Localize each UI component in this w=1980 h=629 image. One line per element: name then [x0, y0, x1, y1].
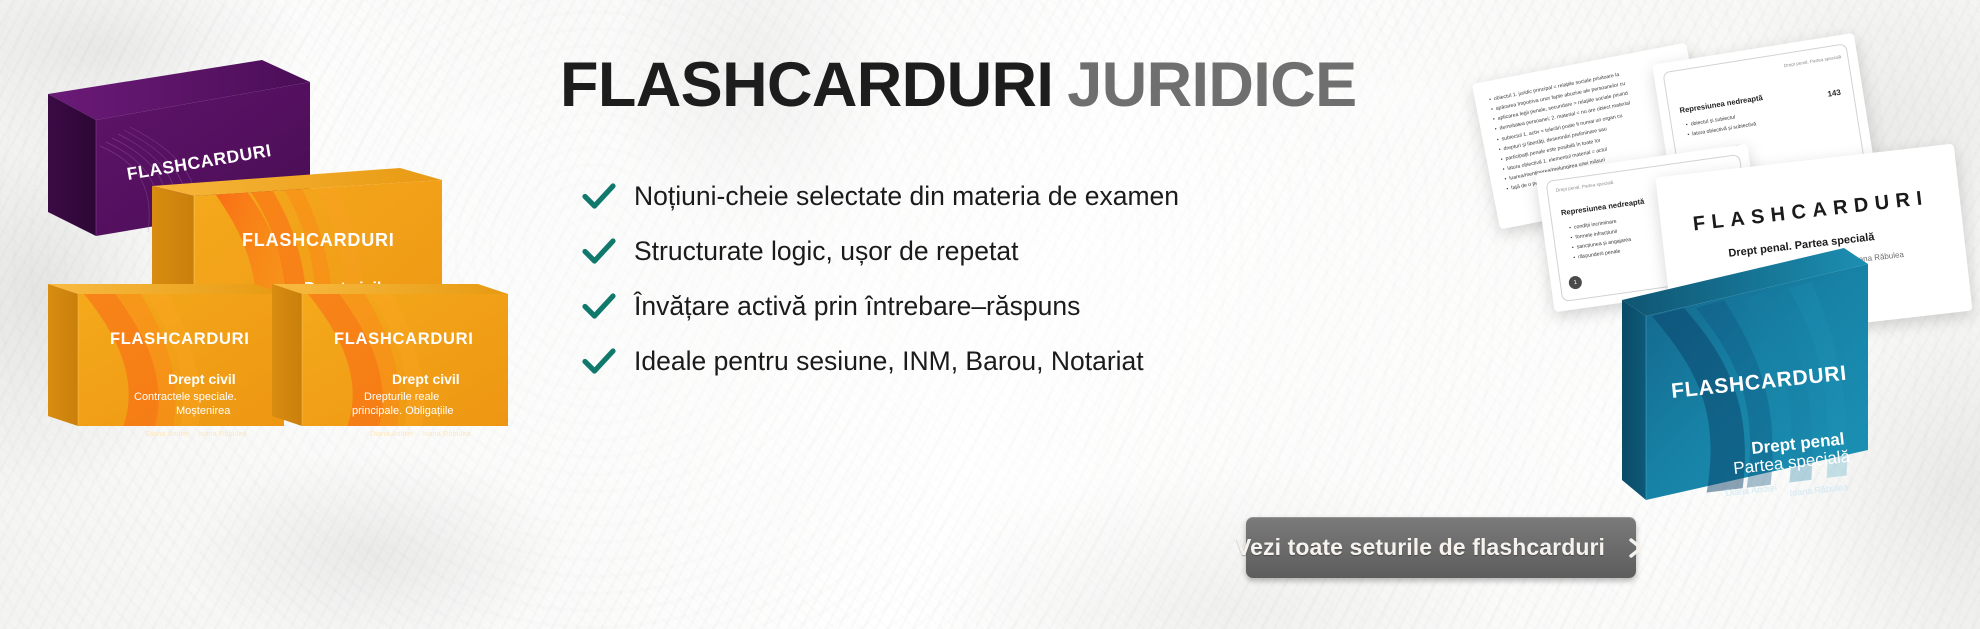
check-icon — [582, 292, 616, 322]
cta-label: Vezi toate seturile de flashcarduri — [1236, 534, 1605, 561]
box-author-2: Ioana Răbulea — [198, 429, 248, 438]
box-author-1: Diana Andrei — [146, 429, 189, 438]
check-icon — [582, 182, 616, 212]
list-item: Învățare activă prin întrebare–răspuns — [582, 286, 1302, 327]
box-brand-label: FLASHCARDURI — [242, 230, 395, 250]
box-subtitle-line2: principale. Obligațiile — [352, 405, 454, 417]
box-brand-label: FLASHCARDURI — [110, 330, 249, 348]
list-item: Ideale pentru sesiune, INM, Barou, Notar… — [582, 341, 1302, 382]
chevron-right-icon — [1627, 537, 1646, 559]
headline-secondary: JURIDICE — [1067, 50, 1356, 120]
view-all-flashcard-sets-button[interactable]: Vezi toate seturile de flashcarduri — [1246, 517, 1636, 578]
page-title: FLASHCARDURIJURIDICE — [560, 54, 1300, 117]
flashcard-brand-label: FLASHCARDURI — [1692, 187, 1930, 237]
product-box-drept-civil-contracte: FLASHCARDURI Drept civil Contractele spe… — [48, 276, 308, 456]
benefits-list: Noțiuni-cheie selectate din materia de e… — [582, 176, 1302, 396]
box-brand-label: FLASHCARDURI — [334, 330, 473, 348]
list-item: Structurate logic, ușor de repetat — [582, 231, 1302, 272]
check-icon — [582, 347, 616, 377]
box-title-label: Drept civil — [168, 371, 236, 387]
benefit-label: Structurate logic, ușor de repetat — [634, 237, 1018, 266]
promo-banner: FLASHCARDURI Drept notarial Maria Motica — [0, 0, 1980, 629]
box-subtitle-line2: Moștenirea — [176, 405, 231, 417]
benefit-label: Învățare activă prin întrebare–răspuns — [634, 292, 1080, 321]
box-subtitle-line1: Drepturile reale — [364, 391, 439, 403]
box-author-2: Ioana Răbulea — [1789, 482, 1848, 498]
box-author-1: Diana Andrei — [370, 429, 413, 438]
box-subtitle-line1: Contractele speciale. — [134, 391, 237, 403]
benefit-label: Ideale pentru sesiune, INM, Barou, Notar… — [634, 347, 1144, 376]
list-item: Noțiuni-cheie selectate din materia de e… — [582, 176, 1302, 217]
box-author-2: Ioana Răbulea — [422, 429, 472, 438]
product-box-drept-civil-drepturi-reale: FLASHCARDURI Drept civil Drepturile real… — [272, 276, 532, 456]
headline-primary: FLASHCARDURI — [560, 50, 1053, 120]
benefit-label: Noțiuni-cheie selectate din materia de e… — [634, 182, 1179, 211]
box-title-label: Drept civil — [392, 371, 460, 387]
product-box-drept-penal: FLASHCARDURI Drept penal Partea specială… — [1592, 238, 1932, 508]
banner-content: FLASHCARDURIJURIDICE Noțiuni-cheie selec… — [560, 54, 1300, 117]
check-icon — [582, 237, 616, 267]
